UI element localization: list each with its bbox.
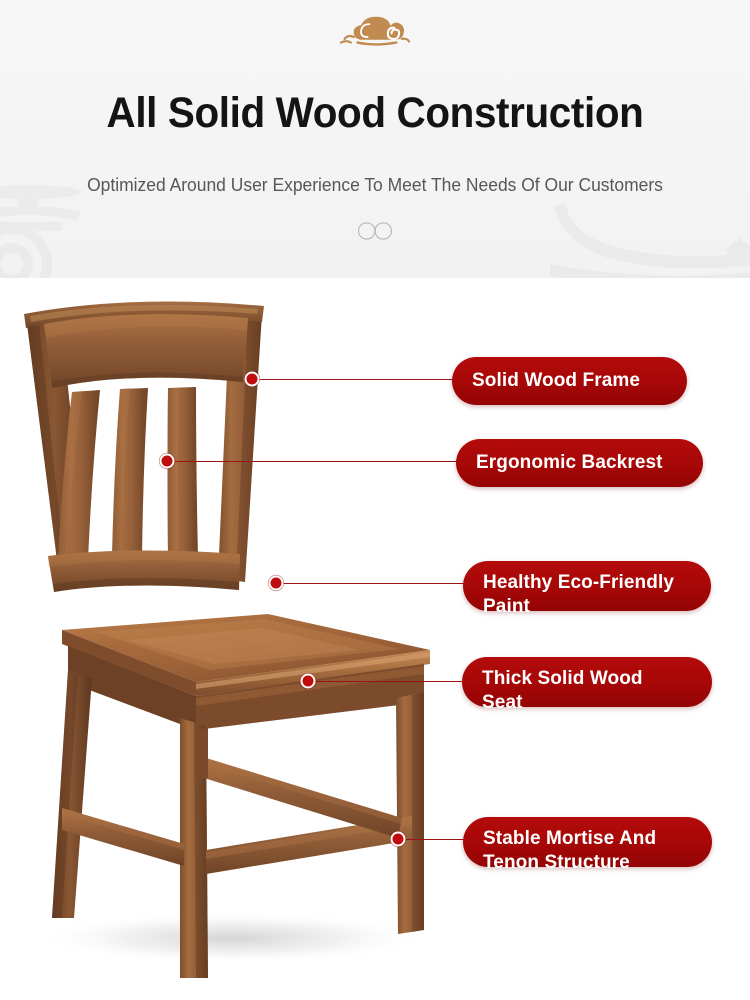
callout-dot-stable-mortise-and-tenon-structure[interactable]	[391, 832, 406, 847]
callout-badge-ergonomic-backrest[interactable]: Ergonomic Backrest	[456, 439, 703, 487]
page-subtitle: Optimized Around User Experience To Meet…	[11, 172, 739, 198]
header-banner: All Solid Wood Construction Optimized Ar…	[0, 0, 750, 278]
callout-badge-stable-mortise-and-tenon-structure[interactable]: Stable Mortise And Tenon Structure	[463, 817, 712, 867]
section-divider	[0, 216, 750, 246]
page-title: All Solid Wood Construction	[23, 84, 728, 142]
callout-badge-thick-solid-wood-seat[interactable]: Thick Solid Wood Seat	[462, 657, 712, 707]
brand-logo	[0, 11, 750, 51]
callout-dot-solid-wood-frame[interactable]	[245, 372, 260, 387]
callout-dot-thick-solid-wood-seat[interactable]	[301, 674, 316, 689]
callout-dot-ergonomic-backrest[interactable]	[160, 454, 175, 469]
infographic-page: All Solid Wood Construction Optimized Ar…	[0, 0, 750, 1000]
callout-badge-healthy-eco-friendly-paint[interactable]: Healthy Eco-Friendly Paint	[463, 561, 711, 611]
interlocking-rings-divider-icon	[356, 220, 394, 242]
callout-badge-solid-wood-frame[interactable]: Solid Wood Frame	[452, 357, 687, 405]
callout-dot-healthy-eco-friendly-paint[interactable]	[269, 576, 284, 591]
auspicious-cloud-logo-icon	[339, 11, 411, 52]
